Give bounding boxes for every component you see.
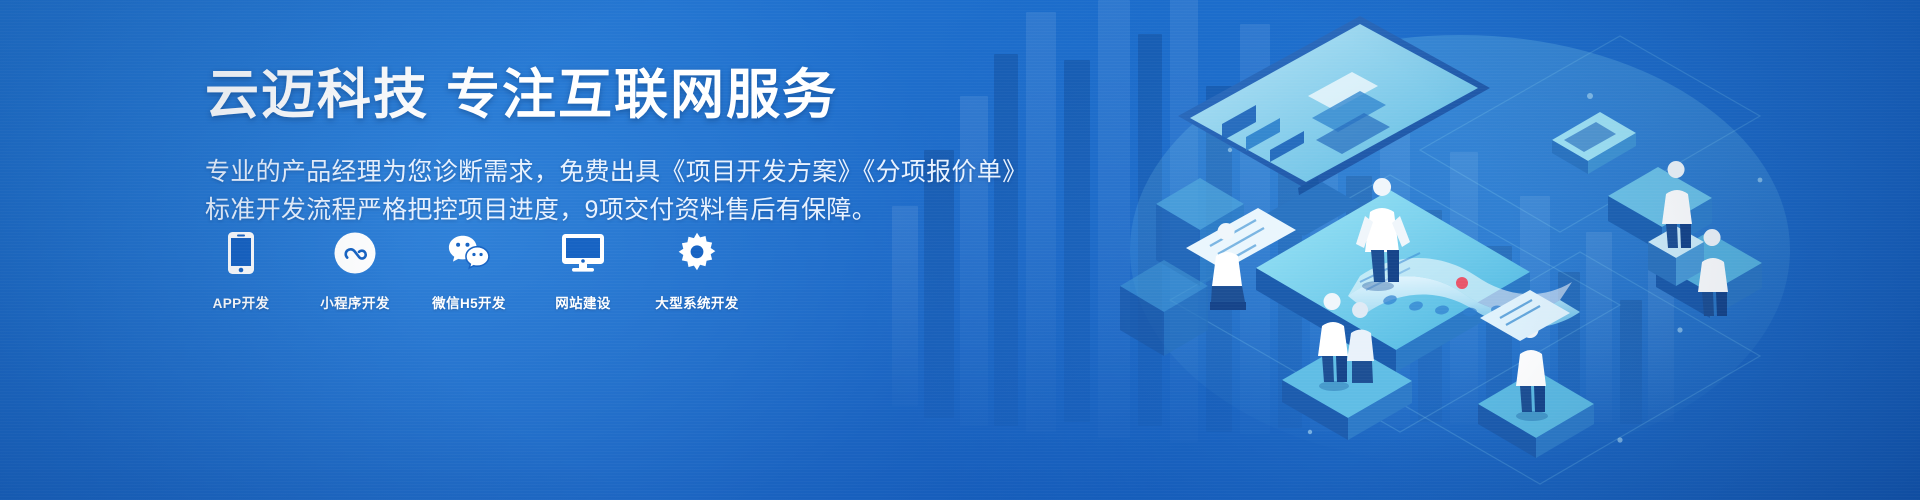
subtitle-line-2: 标准开发流程严格把控项目进度，9项交付资料售后有保障。 <box>205 191 965 229</box>
page-title: 云迈科技 专注互联网服务 <box>205 66 965 125</box>
subtitle-line-1: 专业的产品经理为您诊断需求，免费出具《项目开发方案》《分项报价单》 <box>205 153 965 191</box>
hero-banner: 云迈科技 专注互联网服务 专业的产品经理为您诊断需求，免费出具《项目开发方案》《… <box>0 0 1920 500</box>
banner-text-block: 云迈科技 专注互联网服务 专业的产品经理为您诊断需求，免费出具《项目开发方案》《… <box>205 66 965 229</box>
service-label: 大型系统开发 <box>655 292 738 312</box>
mini-program-icon <box>333 230 377 276</box>
service-item-website[interactable]: 网站建设 <box>547 230 619 312</box>
service-label: 网站建设 <box>555 292 611 312</box>
wechat-icon <box>447 230 491 276</box>
banner-subtitle: 专业的产品经理为您诊断需求，免费出具《项目开发方案》《分项报价单》 标准开发流程… <box>205 153 965 229</box>
service-list: APP开发 小程序开发 微信 <box>205 230 733 312</box>
service-item-wechat-h5[interactable]: 微信H5开发 <box>433 230 505 312</box>
service-label: APP开发 <box>213 292 270 312</box>
service-label: 微信H5开发 <box>432 292 506 312</box>
service-label: 小程序开发 <box>320 292 390 312</box>
mobile-phone-icon <box>219 230 263 276</box>
isometric-illustration <box>1060 0 1920 500</box>
gear-icon <box>675 230 719 276</box>
monitor-icon <box>561 230 605 276</box>
service-item-large-system[interactable]: 大型系统开发 <box>661 230 733 312</box>
service-item-app[interactable]: APP开发 <box>205 230 277 312</box>
service-item-mini-program[interactable]: 小程序开发 <box>319 230 391 312</box>
